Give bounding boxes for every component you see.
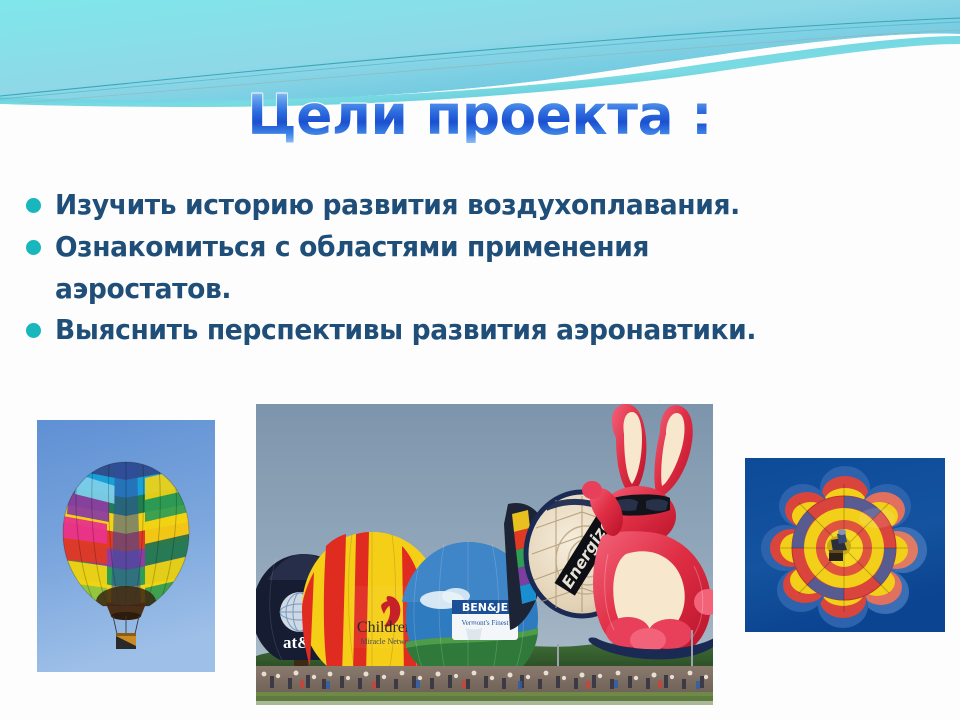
list-item: Выяснить перспективы развития аэронавтик… — [26, 313, 936, 349]
svg-text:BEN&JE: BEN&JE — [462, 601, 508, 614]
page-title-text: Цели проекта : — [248, 88, 713, 143]
list-item-continuation: аэростатов. — [26, 272, 936, 308]
balloon-from-above-photo — [745, 458, 945, 632]
bullet-dot-placeholder-icon — [26, 282, 41, 297]
objectives-list: Изучить историю развития воздухоплавания… — [26, 188, 936, 355]
page-title: Цели проекта : — [0, 88, 960, 143]
list-item-label: Изучить историю развития воздухоплавания… — [55, 188, 740, 224]
bullet-dot-icon — [26, 323, 41, 338]
list-item-label: аэростатов. — [55, 272, 231, 308]
bullet-dot-icon — [26, 240, 41, 255]
balloon-festival-photo: at&t Childrens Miracle N — [256, 404, 713, 705]
list-item-label: Выяснить перспективы развития аэронавтик… — [55, 313, 756, 349]
list-item: Ознакомиться с областями применения — [26, 230, 936, 266]
list-item: Изучить историю развития воздухоплавания… — [26, 188, 936, 224]
bullet-dot-icon — [26, 198, 41, 213]
list-item-label: Ознакомиться с областями применения — [55, 230, 649, 266]
rainbow-balloon-photo — [37, 420, 215, 672]
